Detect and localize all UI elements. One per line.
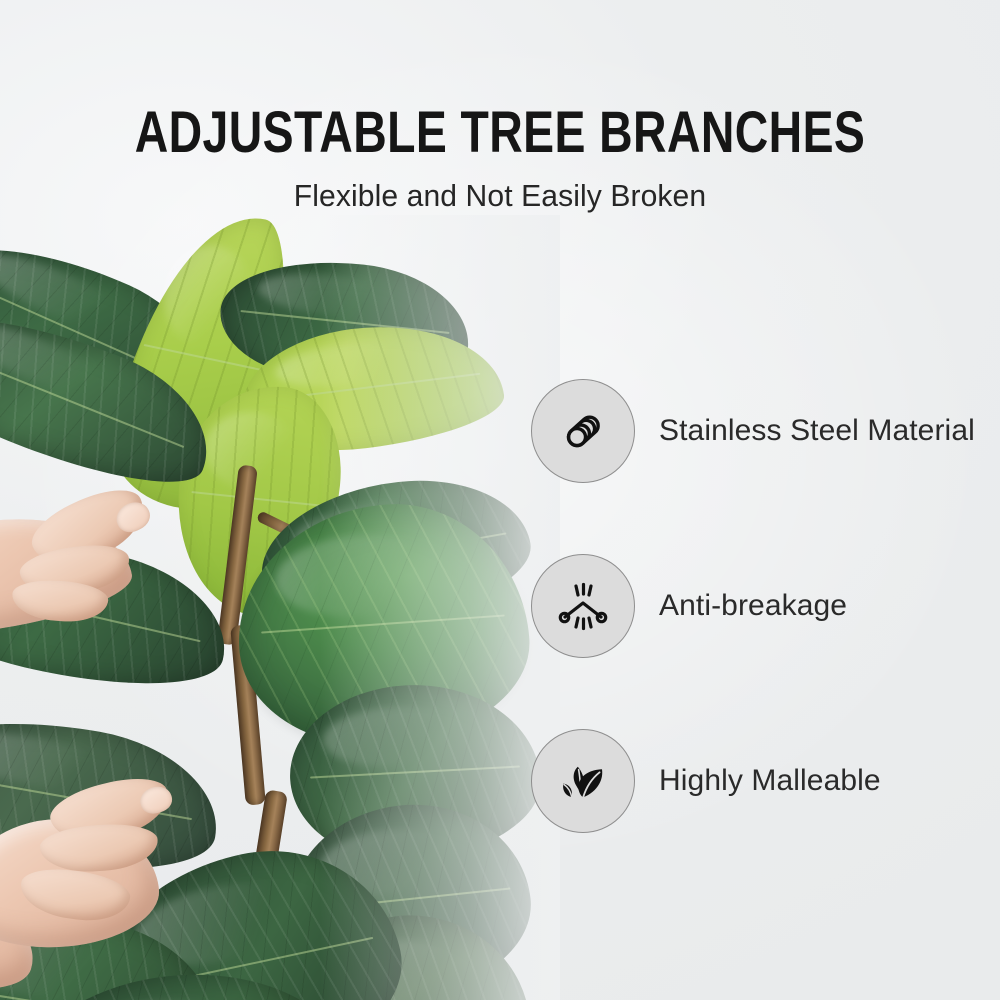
feature-item-anti-breakage: Anti-breakage	[531, 554, 991, 658]
page-title: ADJUSTABLE TREE BRANCHES	[100, 104, 900, 162]
feature-item-stainless-steel: Stainless Steel Material	[531, 379, 991, 483]
page-subtitle: Flexible and Not Easily Broken	[15, 178, 985, 214]
steel-rod-icon	[555, 403, 611, 459]
bent-rod-icon	[554, 577, 612, 635]
feature-icon-badge	[531, 379, 635, 483]
hand-lower	[0, 775, 200, 985]
feature-icon-badge	[531, 554, 635, 658]
leaves-icon	[555, 753, 611, 809]
feature-list: Stainless Steel Material	[531, 379, 991, 833]
product-feature-banner: ADJUSTABLE TREE BRANCHES Flexible and No…	[0, 0, 1000, 1000]
feature-item-highly-malleable: Highly Malleable	[531, 729, 991, 833]
product-photo	[0, 215, 560, 1000]
header-block: ADJUSTABLE TREE BRANCHES Flexible and No…	[0, 104, 1000, 214]
hand-upper	[0, 493, 170, 633]
feature-label: Stainless Steel Material	[659, 414, 975, 448]
feature-icon-badge	[531, 729, 635, 833]
feature-label: Highly Malleable	[659, 764, 881, 798]
feature-label: Anti-breakage	[659, 589, 847, 623]
